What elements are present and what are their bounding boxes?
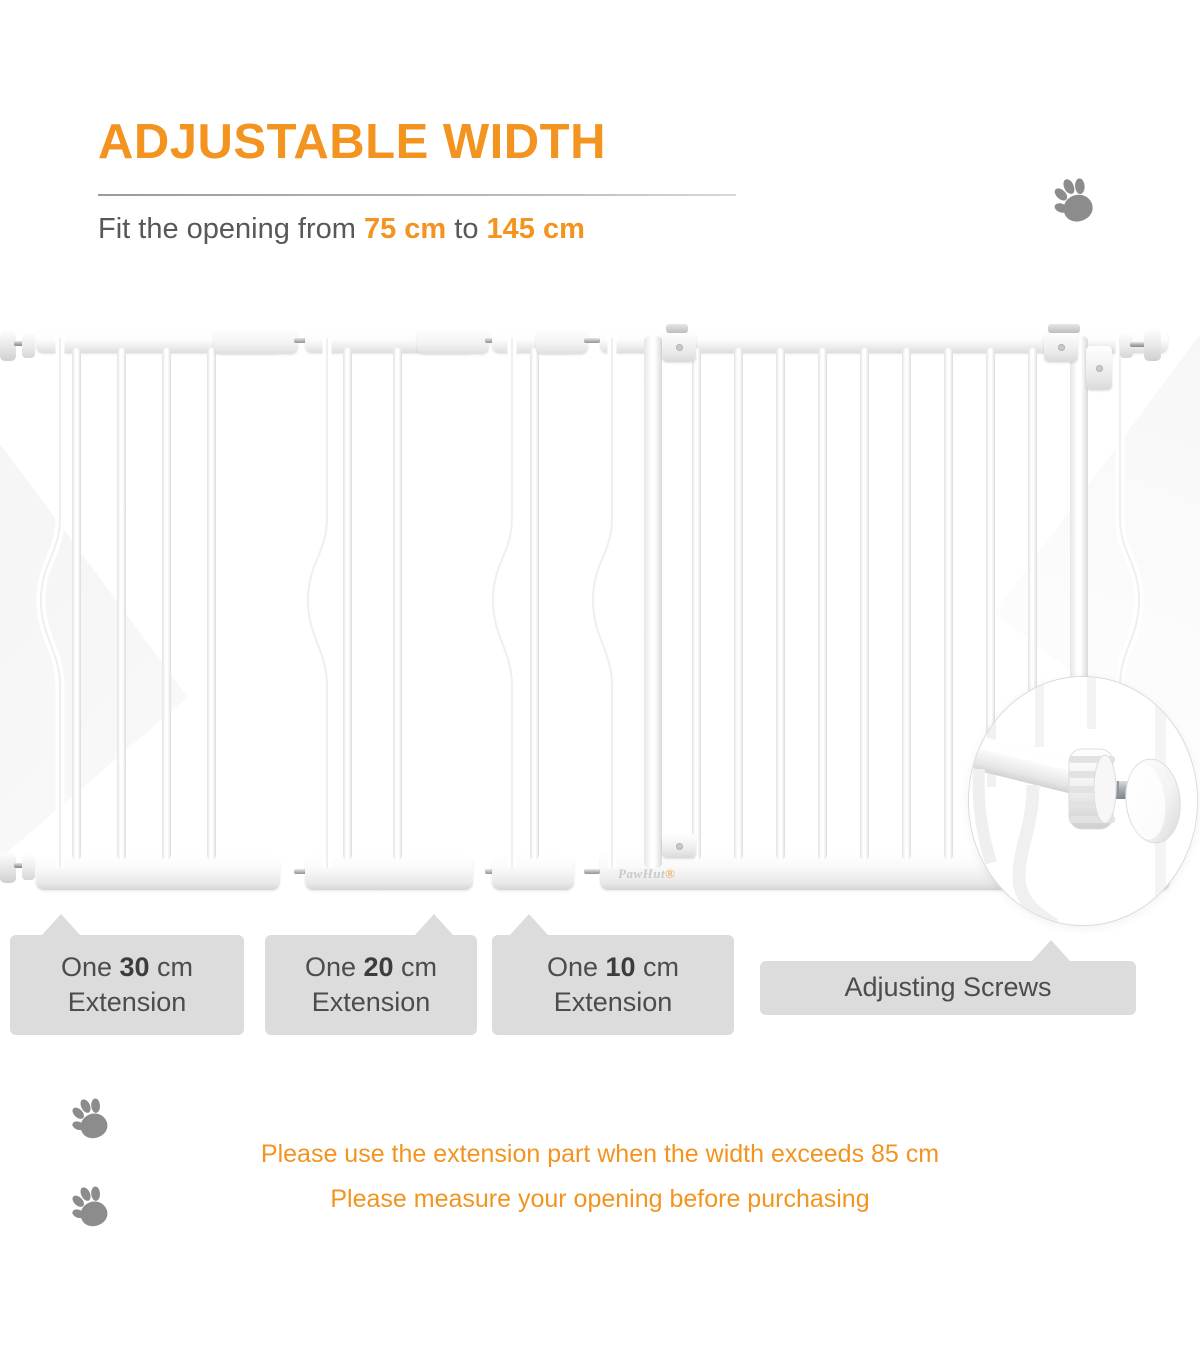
panel-bar xyxy=(393,348,402,860)
extension-panel-20cm xyxy=(305,318,473,890)
gate-hinge-top-left[interactable] xyxy=(662,332,696,362)
panel-bar xyxy=(162,348,171,860)
callout-pointer xyxy=(510,914,548,935)
panel-curved-leg xyxy=(34,338,74,868)
panel-bar xyxy=(117,348,126,860)
gate-bar xyxy=(776,348,785,860)
gate-bar xyxy=(692,348,701,860)
panel-bottom-thread xyxy=(584,869,600,874)
callout-adjusting-screws: Adjusting Screws xyxy=(760,961,1136,1015)
gate-hinge-cap-left xyxy=(666,324,688,333)
callout-line1-pre: One xyxy=(305,952,364,982)
subtitle-min-width: 75 cm xyxy=(364,213,446,245)
callout-text: One 20 cm Extension xyxy=(299,950,443,1020)
callout-extension-20: One 20 cm Extension xyxy=(265,935,477,1035)
brand-logo: PawHut® xyxy=(618,866,675,882)
callout-extension-30: One 30 cm Extension xyxy=(10,935,244,1035)
paw-print-icon-top-right xyxy=(1052,176,1102,234)
panel-curved-leg xyxy=(301,338,341,868)
panel-top-adjuster-sleeve xyxy=(417,329,489,354)
callout-pointer xyxy=(42,914,80,935)
callout-line2: Extension xyxy=(68,987,187,1017)
panel-curved-leg xyxy=(486,338,526,868)
panel-bar xyxy=(72,348,81,860)
gate-latch-top[interactable] xyxy=(1044,332,1078,362)
gate-bar xyxy=(818,348,827,860)
footer-notes: Please use the extension part when the w… xyxy=(0,1140,1200,1214)
brand-logo-text: PawHut xyxy=(618,866,665,881)
gate-bar xyxy=(734,348,743,860)
callout-line1-pre: One xyxy=(547,952,606,982)
callout-extension-10: One 10 cm Extension xyxy=(492,935,734,1035)
callout-line1-value: 10 xyxy=(606,952,636,982)
callout-text: Adjusting Screws xyxy=(838,970,1057,1005)
note-line-1: Please use the extension part when the w… xyxy=(0,1140,1200,1169)
panel-bar xyxy=(530,348,539,860)
page-title: ADJUSTABLE WIDTH xyxy=(98,118,758,167)
gate-door-post-left xyxy=(644,336,662,868)
gate-bar xyxy=(860,348,869,860)
extension-panel-30cm xyxy=(36,318,280,890)
callout-line2: Extension xyxy=(554,987,673,1017)
callout-line2: Extension xyxy=(312,987,431,1017)
callout-line1-value: 30 xyxy=(120,952,150,982)
subtitle-middle: to xyxy=(446,213,486,245)
callout-line1-pre: One xyxy=(61,952,120,982)
header-divider xyxy=(98,194,736,196)
panel-bar xyxy=(343,348,352,860)
panel-top-adjuster-sleeve xyxy=(214,329,298,354)
gate-left-curved-leg xyxy=(586,338,626,868)
panel-top-adjuster-sleeve xyxy=(536,329,588,354)
adjusting-screw-top-right[interactable] xyxy=(1120,324,1154,366)
gate-bar xyxy=(902,348,911,860)
callout-text: One 30 cm Extension xyxy=(55,950,199,1020)
gate-bar xyxy=(944,348,953,860)
callout-pointer xyxy=(415,914,453,935)
gate-hinge-bottom-left[interactable] xyxy=(662,834,696,858)
callout-line1-post: cm xyxy=(394,952,438,982)
latch-pin-icon xyxy=(1096,365,1103,372)
callout-line1-post: cm xyxy=(150,952,194,982)
panel-bar xyxy=(207,348,216,860)
adjusting-screw-top-left xyxy=(0,324,34,366)
note-line-2: Please measure your opening before purch… xyxy=(0,1185,1200,1214)
header-subtitle: Fit the opening from 75 cm to 145 cm xyxy=(98,213,758,246)
latch-pin-icon xyxy=(1058,344,1065,351)
callout-text: One 10 cm Extension xyxy=(541,950,685,1020)
callout-pointer xyxy=(1032,940,1070,961)
brand-logo-accent: ® xyxy=(665,866,675,881)
extension-panel-10cm xyxy=(492,318,574,890)
subtitle-max-width: 145 cm xyxy=(487,213,585,245)
callout-line1-post: cm xyxy=(636,952,680,982)
callout-line1-value: 20 xyxy=(364,952,394,982)
header: ADJUSTABLE WIDTH Fit the opening from 75… xyxy=(98,118,758,246)
hinge-pin-icon xyxy=(676,843,683,850)
gate-latch-cap xyxy=(1048,324,1080,333)
adjusting-screw-bottom-left xyxy=(0,846,34,888)
adjusting-screw-magnifier xyxy=(968,676,1198,926)
hinge-pin-icon xyxy=(676,344,683,351)
subtitle-prefix: Fit the opening from xyxy=(98,213,364,245)
